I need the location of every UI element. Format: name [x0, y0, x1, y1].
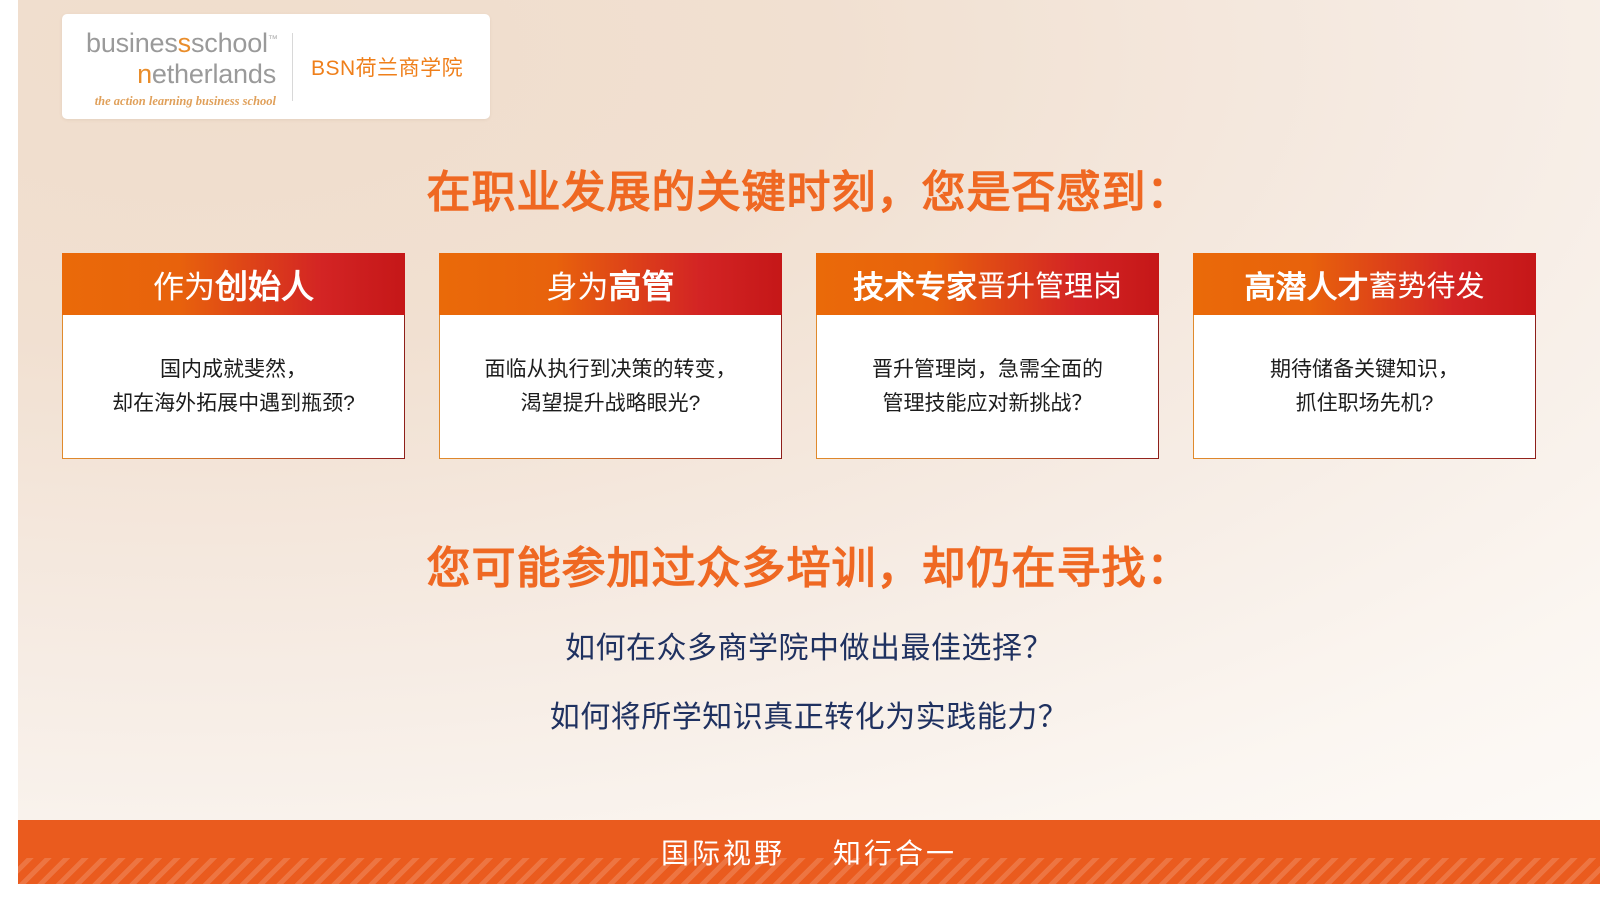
persona-body-line-2: 抓住职场先机? — [1270, 387, 1459, 421]
persona-title-bold: 高潜人才 — [1244, 262, 1368, 307]
persona-body-line-1: 面临从执行到决策的转变， — [485, 353, 737, 387]
persona-body-line-2: 渴望提升战略眼光? — [485, 387, 737, 421]
footer-banner: 国际视野 知行合一 — [18, 820, 1600, 884]
persona-title-bold: 高管 — [609, 260, 675, 308]
logo-text-business: busines — [86, 28, 178, 58]
persona-card-header: 技术专家晋升管理岗 — [816, 253, 1159, 315]
logo-text-n: n — [137, 59, 152, 89]
question-line-1: 如何在众多商学院中做出最佳选择？ — [18, 623, 1600, 667]
persona-card-body: 期待储备关键知识， 抓住职场先机? — [1193, 315, 1536, 459]
persona-card: 技术专家晋升管理岗 晋升管理岗，急需全面的 管理技能应对新挑战？ — [816, 253, 1159, 459]
question-line-2: 如何将所学知识真正转化为实践能力？ — [18, 692, 1600, 736]
persona-card: 身为高管 面临从执行到决策的转变， 渴望提升战略眼光? — [439, 253, 782, 459]
logo-line-2: netherlands — [86, 59, 276, 90]
persona-card: 作为创始人 国内成就斐然， 却在海外拓展中遇到瓶颈? — [62, 253, 405, 459]
persona-title-regular: 作为 — [153, 262, 215, 307]
persona-title-regular: 晋升管理岗 — [977, 263, 1122, 305]
footer-slogan-right: 知行合一 — [833, 832, 957, 872]
persona-title-bold: 技术专家 — [853, 262, 977, 307]
brand-logo-card: businessschool™ netherlands the action l… — [62, 14, 490, 119]
trademark-icon: ™ — [268, 34, 278, 45]
persona-card: 高潜人才蓄势待发 期待储备关键知识， 抓住职场先机? — [1193, 253, 1536, 459]
persona-body-line-1: 晋升管理岗，急需全面的 — [872, 353, 1103, 387]
persona-body-line-2: 管理技能应对新挑战？ — [872, 387, 1103, 421]
persona-title-bold: 创始人 — [215, 260, 314, 308]
logo-text-s: s — [178, 28, 191, 58]
persona-body-line-1: 期待储备关键知识， — [1270, 353, 1459, 387]
persona-card-header: 高潜人才蓄势待发 — [1193, 253, 1536, 315]
logo-divider — [292, 33, 293, 101]
logo-tagline: the action learning business school — [86, 94, 276, 109]
primary-heading: 在职业发展的关键时刻，您是否感到： — [18, 156, 1600, 220]
persona-title-regular: 蓄势待发 — [1368, 263, 1484, 305]
persona-card-body: 面临从执行到决策的转变， 渴望提升战略眼光? — [439, 315, 782, 459]
persona-title-regular: 身为 — [547, 262, 609, 307]
logo-text-school: school — [191, 28, 268, 58]
persona-body-line-1: 国内成就斐然， — [112, 353, 355, 387]
persona-card-body: 国内成就斐然， 却在海外拓展中遇到瓶颈? — [62, 315, 405, 459]
slide-canvas: businessschool™ netherlands the action l… — [18, 0, 1600, 884]
footer-slogan: 国际视野 知行合一 — [18, 820, 1600, 884]
persona-card-body: 晋升管理岗，急需全面的 管理技能应对新挑战？ — [816, 315, 1159, 459]
logo-line-1: businessschool™ — [86, 24, 276, 59]
persona-card-header: 作为创始人 — [62, 253, 405, 315]
logo-chinese-name: BSN荷兰商学院 — [311, 52, 463, 82]
secondary-heading: 您可能参加过众多培训，却仍在寻找： — [18, 532, 1600, 596]
persona-card-row: 作为创始人 国内成就斐然， 却在海外拓展中遇到瓶颈? 身为高管 面临从执行到决策… — [62, 253, 1536, 459]
footer-slogan-left: 国际视野 — [661, 832, 785, 872]
logo-wordmark: businessschool™ netherlands the action l… — [62, 24, 276, 109]
persona-body-line-2: 却在海外拓展中遇到瓶颈? — [112, 387, 355, 421]
logo-text-etherlands: etherlands — [152, 59, 276, 89]
persona-card-header: 身为高管 — [439, 253, 782, 315]
